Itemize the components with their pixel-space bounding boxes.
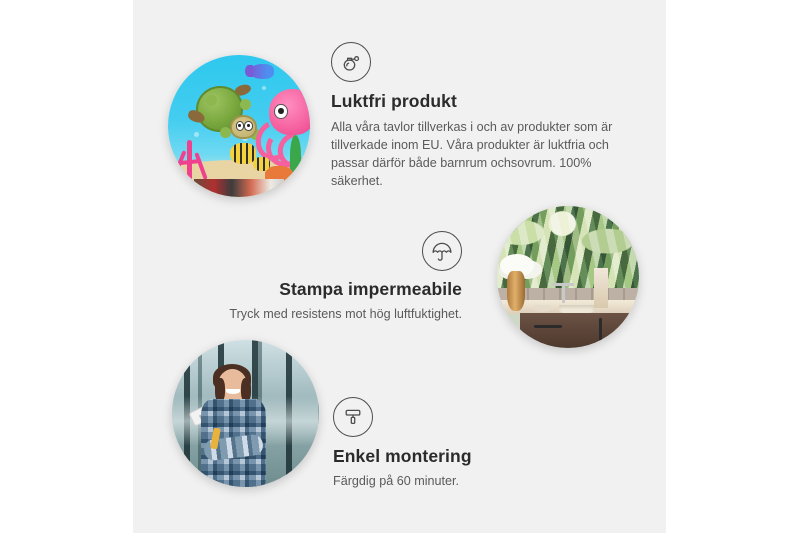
forest-scene (172, 340, 319, 487)
yellow-fish-icon (253, 157, 270, 171)
octopus-icon (253, 89, 310, 160)
feature-description: Alla våra tavlor tillverkas i och av pro… (331, 118, 621, 191)
feature-description: Tryck med resistens mot hög luftfuktighe… (200, 305, 462, 323)
umbrella-waterproof-icon (422, 231, 462, 271)
feature-block-odor-free: Luktfri produkt Alla våra tavlor tillver… (331, 42, 621, 191)
underwater-scene (168, 55, 310, 197)
feature-title: Luktfri produkt (331, 91, 621, 112)
feature-image-woman-forest-mural (172, 340, 319, 487)
faucet-icon (562, 283, 565, 303)
no-odor-perfume-bottle-icon (331, 42, 371, 82)
feature-title: Stampa impermeabile (200, 279, 462, 300)
feature-block-easy-install: Enkel montering Färgdig på 60 minuter. (333, 397, 603, 490)
room-strip (194, 179, 285, 197)
sea-turtle-icon (191, 83, 256, 143)
yellow-fish-icon (230, 143, 256, 164)
feature-image-underwater-kids-mural (168, 55, 310, 197)
turtle-eye (236, 121, 245, 131)
feature-title: Enkel montering (333, 446, 603, 467)
feature-block-waterproof: Stampa impermeabile Tryck med resistens … (200, 231, 462, 323)
turtle-eye (244, 121, 253, 131)
bathroom-scene (497, 206, 639, 348)
octopus-body (269, 89, 310, 134)
octopus-eye (274, 104, 288, 120)
soap-bottle-icon (594, 268, 608, 308)
door-handle (599, 318, 602, 341)
paint-roller-icon (333, 397, 373, 437)
vanity-cabinet (520, 313, 639, 349)
blue-fish-icon (250, 64, 274, 80)
drawer-handle (534, 325, 562, 328)
product-feature-infographic: Luktfri produkt Alla våra tavlor tillver… (0, 0, 800, 533)
feature-image-bathroom-leaf-mural (497, 206, 639, 348)
vase-icon (507, 271, 525, 311)
feature-description: Färgdig på 60 minuter. (333, 472, 603, 490)
